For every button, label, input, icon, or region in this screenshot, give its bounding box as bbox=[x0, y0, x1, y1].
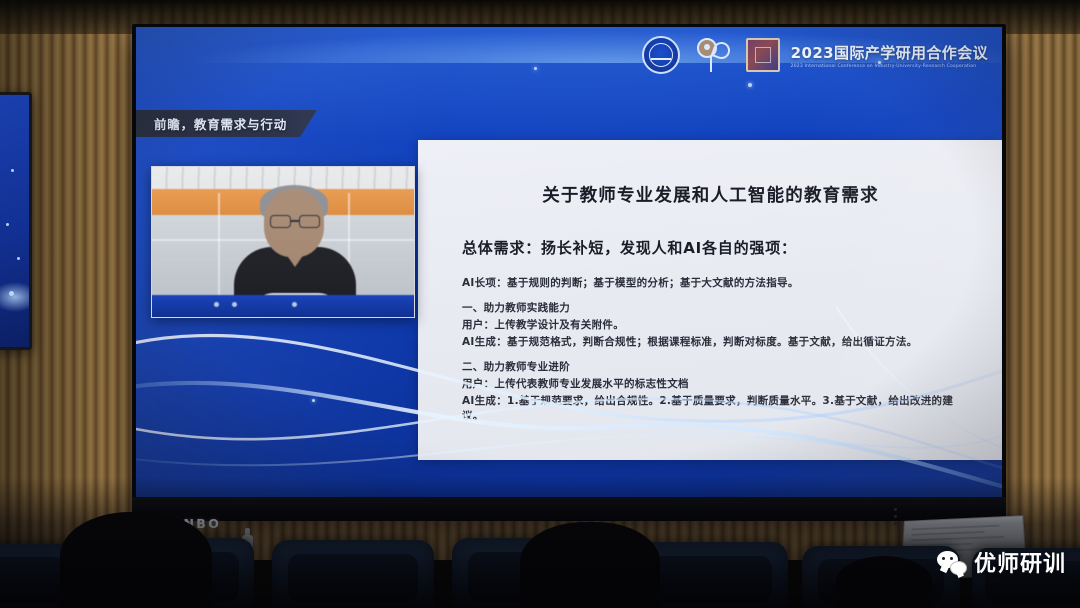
university-seal-logo bbox=[642, 36, 680, 74]
secondary-display bbox=[0, 92, 32, 350]
sparkle bbox=[534, 67, 537, 70]
slide-body-line: AI长项：基于规则的判断；基于模型的分析；基于大文献的方法指导。 bbox=[462, 276, 973, 291]
watermark-text: 优师研训 bbox=[974, 546, 1066, 578]
slide-chapter-tab: 前瞻，教育需求与行动 bbox=[136, 110, 317, 137]
wechat-icon bbox=[937, 550, 967, 575]
banner-subtitle: 2023 International Conference on Industr… bbox=[791, 64, 988, 69]
sparkle bbox=[748, 83, 752, 87]
room-darkness bbox=[0, 478, 1080, 608]
channel-watermark: 优师研训 bbox=[937, 546, 1066, 578]
banner-text-group: 2023国际产学研用合作会议 2023 International Confer… bbox=[791, 42, 988, 69]
conference-book-logo bbox=[746, 38, 780, 72]
slide-subtitle: 总体需求：扬长补短，发现人和AI各自的强项： bbox=[462, 237, 985, 258]
video-softness bbox=[152, 167, 414, 317]
chapter-tab-label: 前瞻，教育需求与行动 bbox=[154, 114, 287, 133]
conference-room-photo: 2023国际产学研用合作会议 2023 International Confer… bbox=[0, 0, 1080, 608]
decorative-light-ribbons bbox=[136, 307, 1002, 497]
conference-banner: 2023国际产学研用合作会议 2023 International Confer… bbox=[642, 36, 988, 74]
education-tree-logo bbox=[691, 36, 735, 74]
banner-title: 2023国际产学研用合作会议 bbox=[791, 42, 988, 63]
slide-title: 关于教师专业发展和人工智能的教育需求 bbox=[436, 182, 985, 207]
video-call-window bbox=[151, 166, 415, 318]
